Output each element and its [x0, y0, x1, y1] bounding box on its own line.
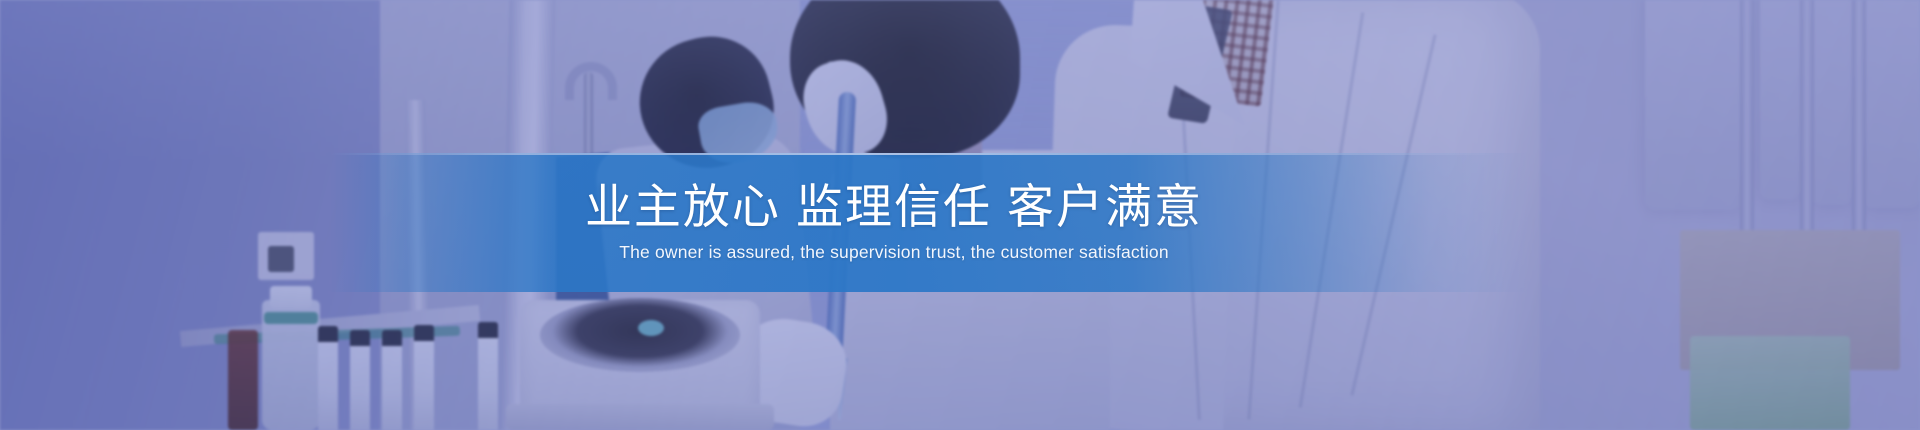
banner-subline: The owner is assured, the supervision tr…	[619, 242, 1169, 263]
caption-block: 业主放心 监理信任 客户满意 The owner is assured, the…	[0, 153, 1920, 292]
hero-banner: 业主放心 监理信任 客户满意 The owner is assured, the…	[0, 0, 1920, 430]
banner-headline: 业主放心 监理信任 客户满意	[585, 182, 1203, 232]
